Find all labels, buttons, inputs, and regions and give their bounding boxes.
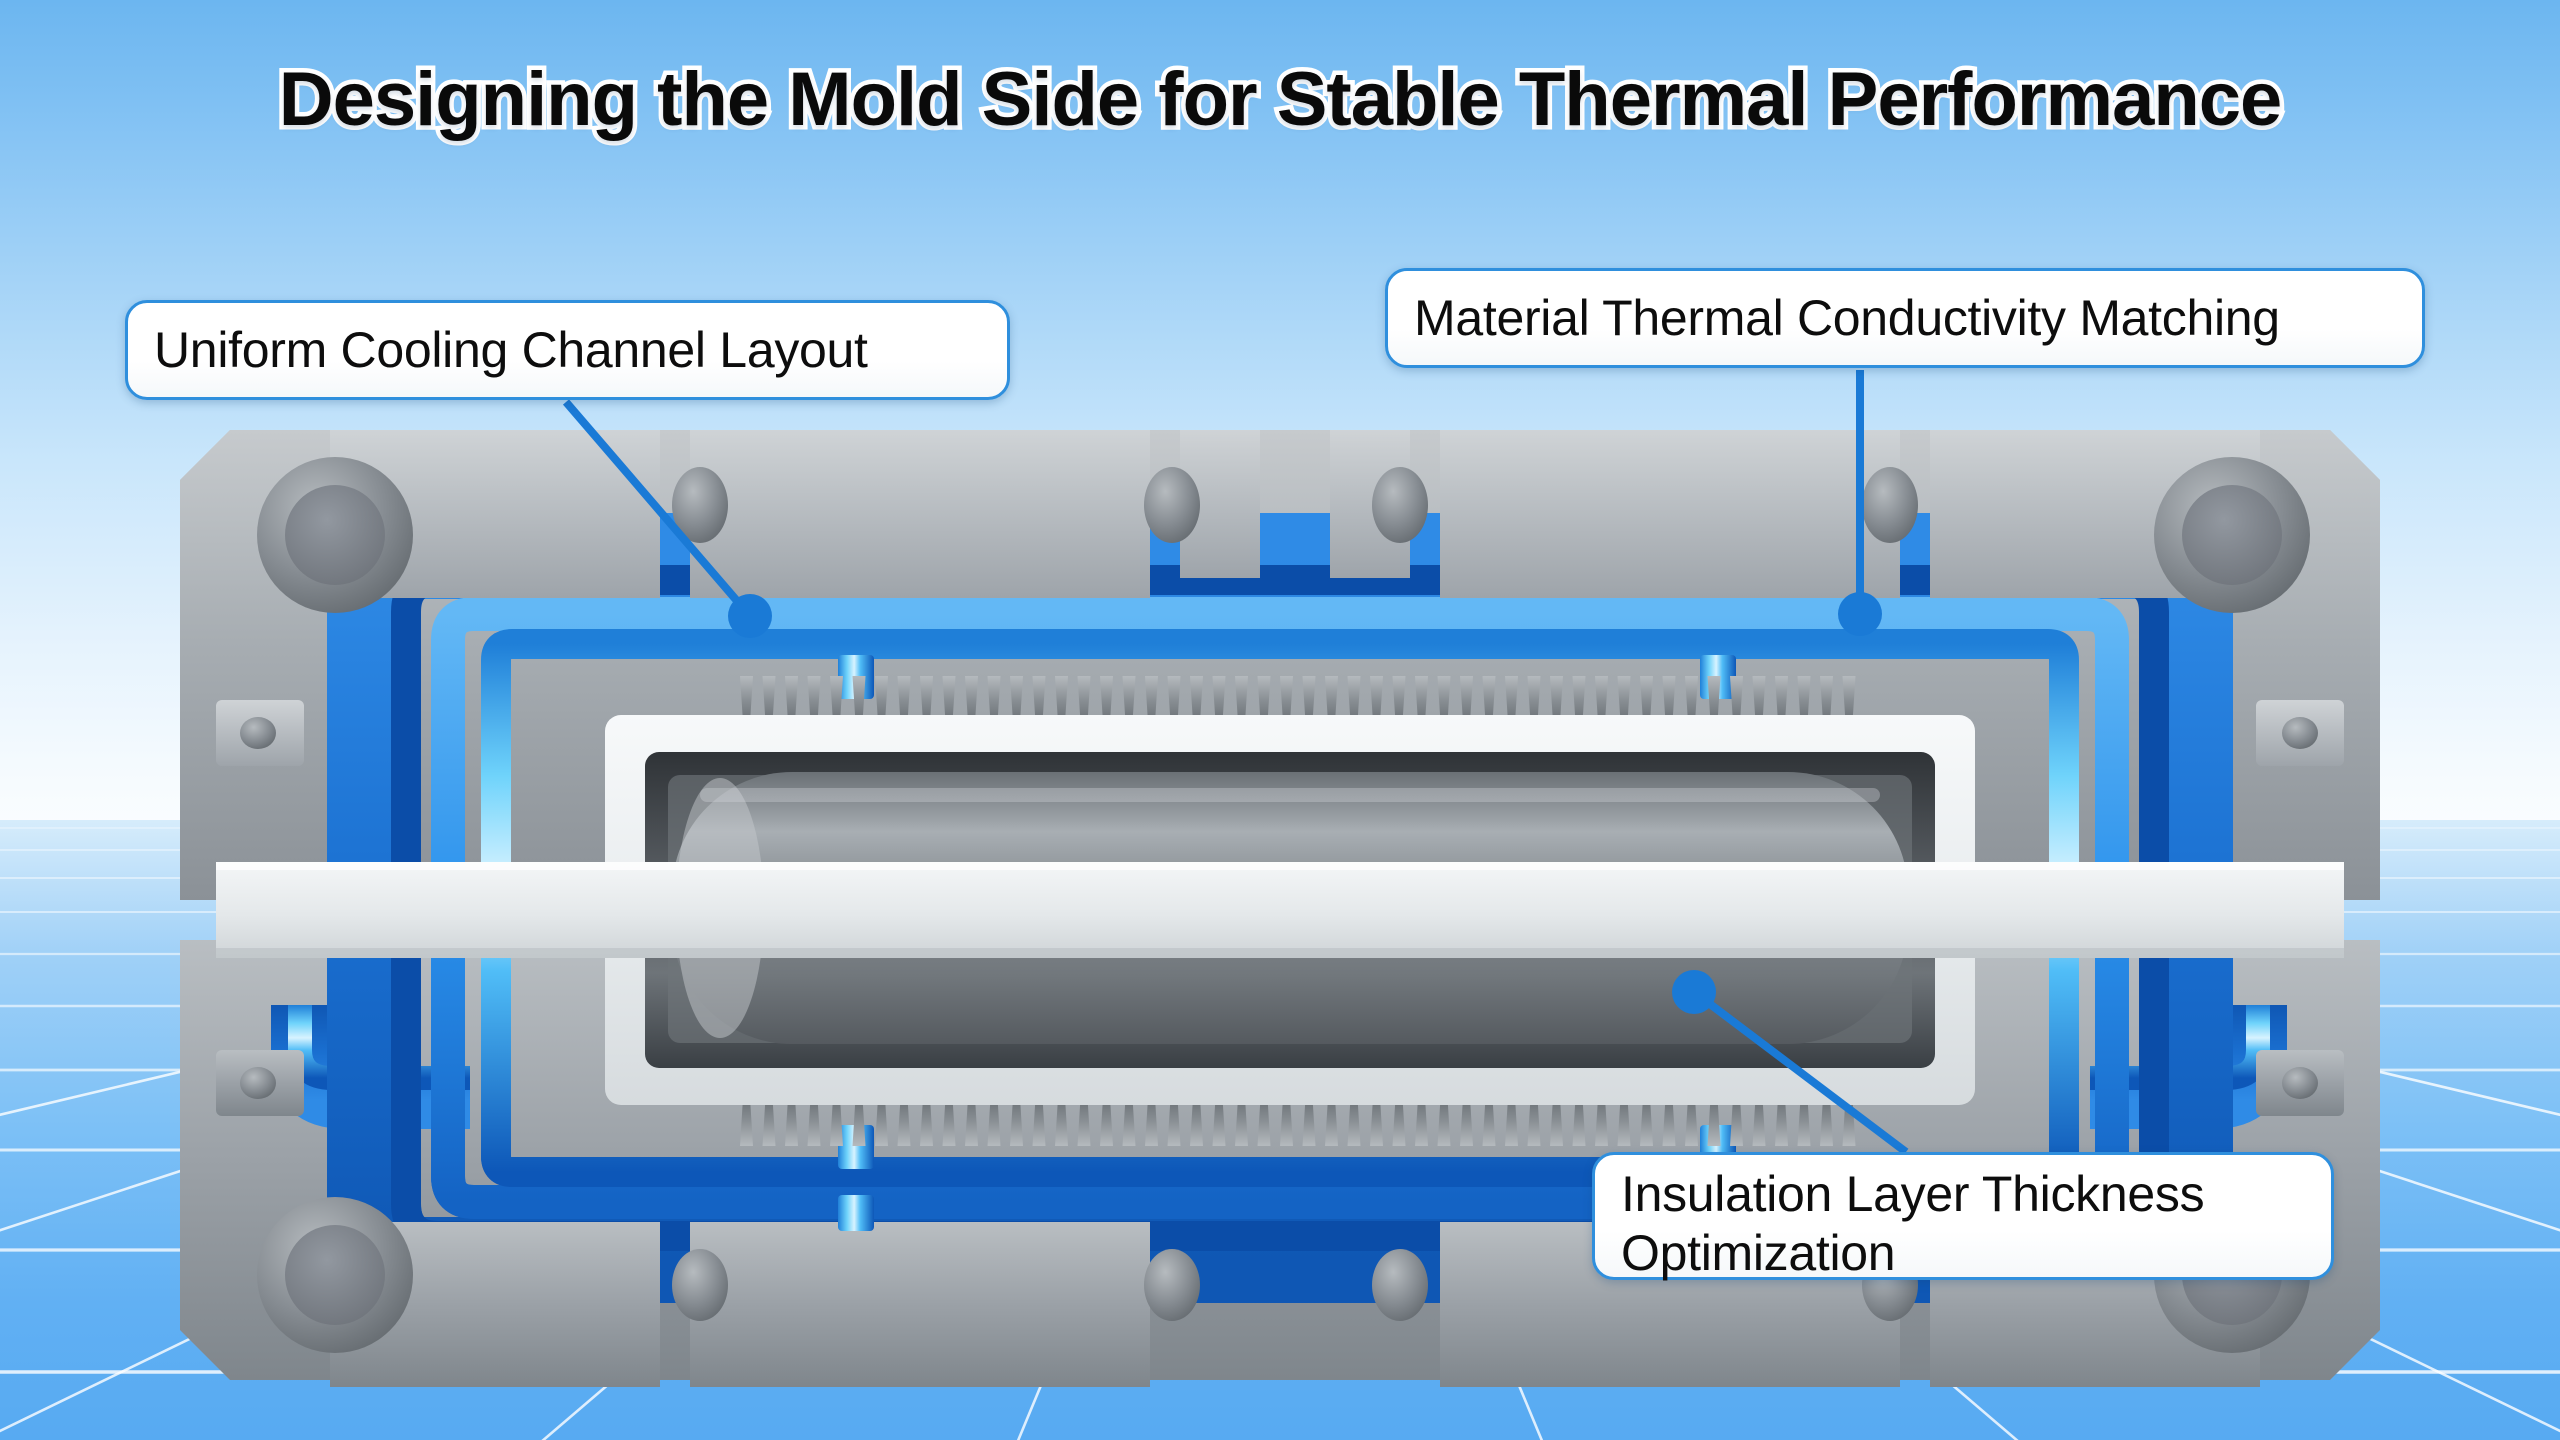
callout-uniform-cooling-channel-layout[interactable]: Uniform Cooling Channel Layout	[125, 300, 1010, 400]
lug-hole	[240, 717, 276, 749]
guide-bolt-hole	[672, 1249, 728, 1321]
leader-dot-insulation	[1672, 970, 1716, 1014]
guide-bolt-hole-inner	[285, 485, 385, 585]
leader-dot-conductivity	[1838, 592, 1882, 636]
page-title: Designing the Mold Side for Stable Therm…	[0, 62, 2560, 138]
clamp-block	[690, 1222, 1150, 1387]
parting-plate	[216, 862, 2344, 958]
lug-hole	[2282, 717, 2318, 749]
leader-dot-cooling	[728, 594, 772, 638]
guide-bolt-hole-inner	[2182, 485, 2282, 585]
callout-label: Uniform Cooling Channel Layout	[154, 321, 868, 380]
clamp-block	[1440, 430, 1900, 598]
guide-bolt-hole	[1862, 467, 1918, 543]
lug-hole	[2282, 1067, 2318, 1099]
callout-label: Insulation Layer Thickness Optimization	[1621, 1165, 2204, 1282]
guide-bolt-hole-inner	[285, 1225, 385, 1325]
guide-bolt-hole	[1372, 1249, 1428, 1321]
callout-material-thermal-conductivity-matching[interactable]: Material Thermal Conductivity Matching	[1385, 268, 2425, 368]
callout-insulation-layer-thickness-optimization[interactable]: Insulation Layer Thickness Optimization	[1592, 1152, 2334, 1280]
guide-bolt-hole	[1144, 467, 1200, 543]
clamp-block	[690, 430, 1150, 598]
lug-hole	[240, 1067, 276, 1099]
illustration-canvas: Designing the Mold Side for Stable Therm…	[0, 0, 2560, 1440]
guide-bolt-hole	[1372, 467, 1428, 543]
parting-plate-band	[216, 862, 2344, 958]
callout-label: Material Thermal Conductivity Matching	[1414, 289, 2280, 348]
guide-bolt-hole	[1144, 1249, 1200, 1321]
